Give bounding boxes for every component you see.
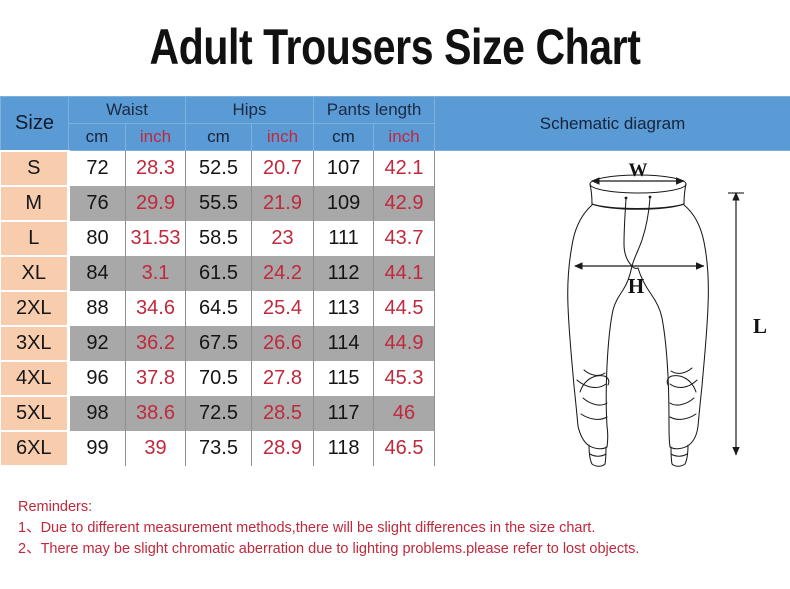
cell-waist-cm: 92 xyxy=(69,326,126,361)
header-waist-cm: cm xyxy=(69,124,126,151)
cell-hips-inch: 28.9 xyxy=(252,431,314,466)
cell-hips-inch: 24.2 xyxy=(252,256,314,291)
size-chart-table: Size Waist Hips Pants length Schematic d… xyxy=(0,96,790,467)
cell-length-cm: 112 xyxy=(314,256,374,291)
cell-size: 2XL xyxy=(1,291,69,326)
header-hips-cm: cm xyxy=(186,124,252,151)
schematic-spacer-cell xyxy=(435,361,790,396)
cell-length-inch: 44.1 xyxy=(374,256,435,291)
header-group-waist: Waist xyxy=(69,97,186,124)
cell-size: XL xyxy=(1,256,69,291)
cell-length-cm: 107 xyxy=(314,151,374,186)
cell-length-cm: 114 xyxy=(314,326,374,361)
cell-waist-inch: 39 xyxy=(126,431,186,466)
cell-hips-cm: 52.5 xyxy=(186,151,252,186)
cell-length-cm: 115 xyxy=(314,361,374,396)
cell-waist-inch: 36.2 xyxy=(126,326,186,361)
header-hips-inch: inch xyxy=(252,124,314,151)
header-group-hips: Hips xyxy=(186,97,314,124)
cell-hips-inch: 28.5 xyxy=(252,396,314,431)
cell-waist-cm: 84 xyxy=(69,256,126,291)
header-size: Size xyxy=(1,97,69,151)
header-length-cm: cm xyxy=(314,124,374,151)
cell-hips-cm: 72.5 xyxy=(186,396,252,431)
header-schematic-diagram: Schematic diagram xyxy=(435,97,790,151)
cell-waist-inch: 29.9 xyxy=(126,186,186,221)
cell-waist-cm: 99 xyxy=(69,431,126,466)
cell-hips-cm: 55.5 xyxy=(186,186,252,221)
cell-waist-inch: 38.6 xyxy=(126,396,186,431)
cell-hips-inch: 21.9 xyxy=(252,186,314,221)
table-row: S7228.352.520.710742.1 xyxy=(1,151,790,186)
table-row: XL843.161.524.211244.1 xyxy=(1,256,790,291)
reminder-line-1: 1、Due to different measurement methods,t… xyxy=(18,518,639,539)
cell-size: M xyxy=(1,186,69,221)
cell-size: 4XL xyxy=(1,361,69,396)
cell-waist-cm: 76 xyxy=(69,186,126,221)
cell-size: S xyxy=(1,151,69,186)
cell-length-cm: 113 xyxy=(314,291,374,326)
cell-hips-inch: 26.6 xyxy=(252,326,314,361)
cell-length-inch: 42.9 xyxy=(374,186,435,221)
cell-waist-inch: 28.3 xyxy=(126,151,186,186)
cell-hips-cm: 58.5 xyxy=(186,221,252,256)
cell-waist-cm: 96 xyxy=(69,361,126,396)
cell-waist-inch: 31.53 xyxy=(126,221,186,256)
cell-length-inch: 46.5 xyxy=(374,431,435,466)
schematic-spacer-cell xyxy=(435,431,790,466)
cell-length-inch: 42.1 xyxy=(374,151,435,186)
table-row: 2XL8834.664.525.411344.5 xyxy=(1,291,790,326)
reminder-line-2: 2、There may be slight chromatic aberrati… xyxy=(18,539,639,560)
table-row: 6XL993973.528.911846.5 xyxy=(1,431,790,466)
cell-length-cm: 111 xyxy=(314,221,374,256)
schematic-spacer-cell xyxy=(435,256,790,291)
cell-length-inch: 43.7 xyxy=(374,221,435,256)
cell-hips-cm: 73.5 xyxy=(186,431,252,466)
schematic-spacer-cell xyxy=(435,221,790,256)
cell-waist-inch: 3.1 xyxy=(126,256,186,291)
cell-hips-cm: 70.5 xyxy=(186,361,252,396)
cell-waist-inch: 34.6 xyxy=(126,291,186,326)
cell-length-inch: 44.5 xyxy=(374,291,435,326)
header-waist-inch: inch xyxy=(126,124,186,151)
cell-waist-cm: 88 xyxy=(69,291,126,326)
cell-hips-inch: 23 xyxy=(252,221,314,256)
table-row: M7629.955.521.910942.9 xyxy=(1,186,790,221)
cell-waist-cm: 80 xyxy=(69,221,126,256)
cell-length-cm: 117 xyxy=(314,396,374,431)
cell-length-cm: 109 xyxy=(314,186,374,221)
cell-waist-inch: 37.8 xyxy=(126,361,186,396)
cell-size: 3XL xyxy=(1,326,69,361)
cell-hips-inch: 20.7 xyxy=(252,151,314,186)
table-body: S7228.352.520.710742.1M7629.955.521.9109… xyxy=(1,151,790,466)
cell-waist-cm: 98 xyxy=(69,396,126,431)
cell-length-inch: 45.3 xyxy=(374,361,435,396)
schematic-spacer-cell xyxy=(435,326,790,361)
cell-size: L xyxy=(1,221,69,256)
cell-length-inch: 46 xyxy=(374,396,435,431)
table-header-group-row: Size Waist Hips Pants length Schematic d… xyxy=(1,97,790,124)
schematic-spacer-cell xyxy=(435,291,790,326)
cell-hips-inch: 27.8 xyxy=(252,361,314,396)
table-row: 4XL9637.870.527.811545.3 xyxy=(1,361,790,396)
table-row: 3XL9236.267.526.611444.9 xyxy=(1,326,790,361)
cell-waist-cm: 72 xyxy=(69,151,126,186)
header-length-inch: inch xyxy=(374,124,435,151)
cell-hips-inch: 25.4 xyxy=(252,291,314,326)
reminders-heading: Reminders: xyxy=(18,497,639,518)
cell-hips-cm: 61.5 xyxy=(186,256,252,291)
table-row: L8031.5358.52311143.7 xyxy=(1,221,790,256)
table-row: 5XL9838.672.528.511746 xyxy=(1,396,790,431)
size-chart-area: Size Waist Hips Pants length Schematic d… xyxy=(0,96,790,471)
reminders-block: Reminders: 1、Due to different measuremen… xyxy=(18,497,639,560)
header-group-pants-length: Pants length xyxy=(314,97,435,124)
cell-length-inch: 44.9 xyxy=(374,326,435,361)
cell-hips-cm: 64.5 xyxy=(186,291,252,326)
cell-size: 5XL xyxy=(1,396,69,431)
cell-hips-cm: 67.5 xyxy=(186,326,252,361)
cell-size: 6XL xyxy=(1,431,69,466)
cell-length-cm: 118 xyxy=(314,431,374,466)
schematic-spacer-cell xyxy=(435,396,790,431)
page-title: Adult Trousers Size Chart xyxy=(71,0,719,72)
schematic-spacer-cell xyxy=(435,186,790,221)
schematic-spacer-cell xyxy=(435,151,790,186)
